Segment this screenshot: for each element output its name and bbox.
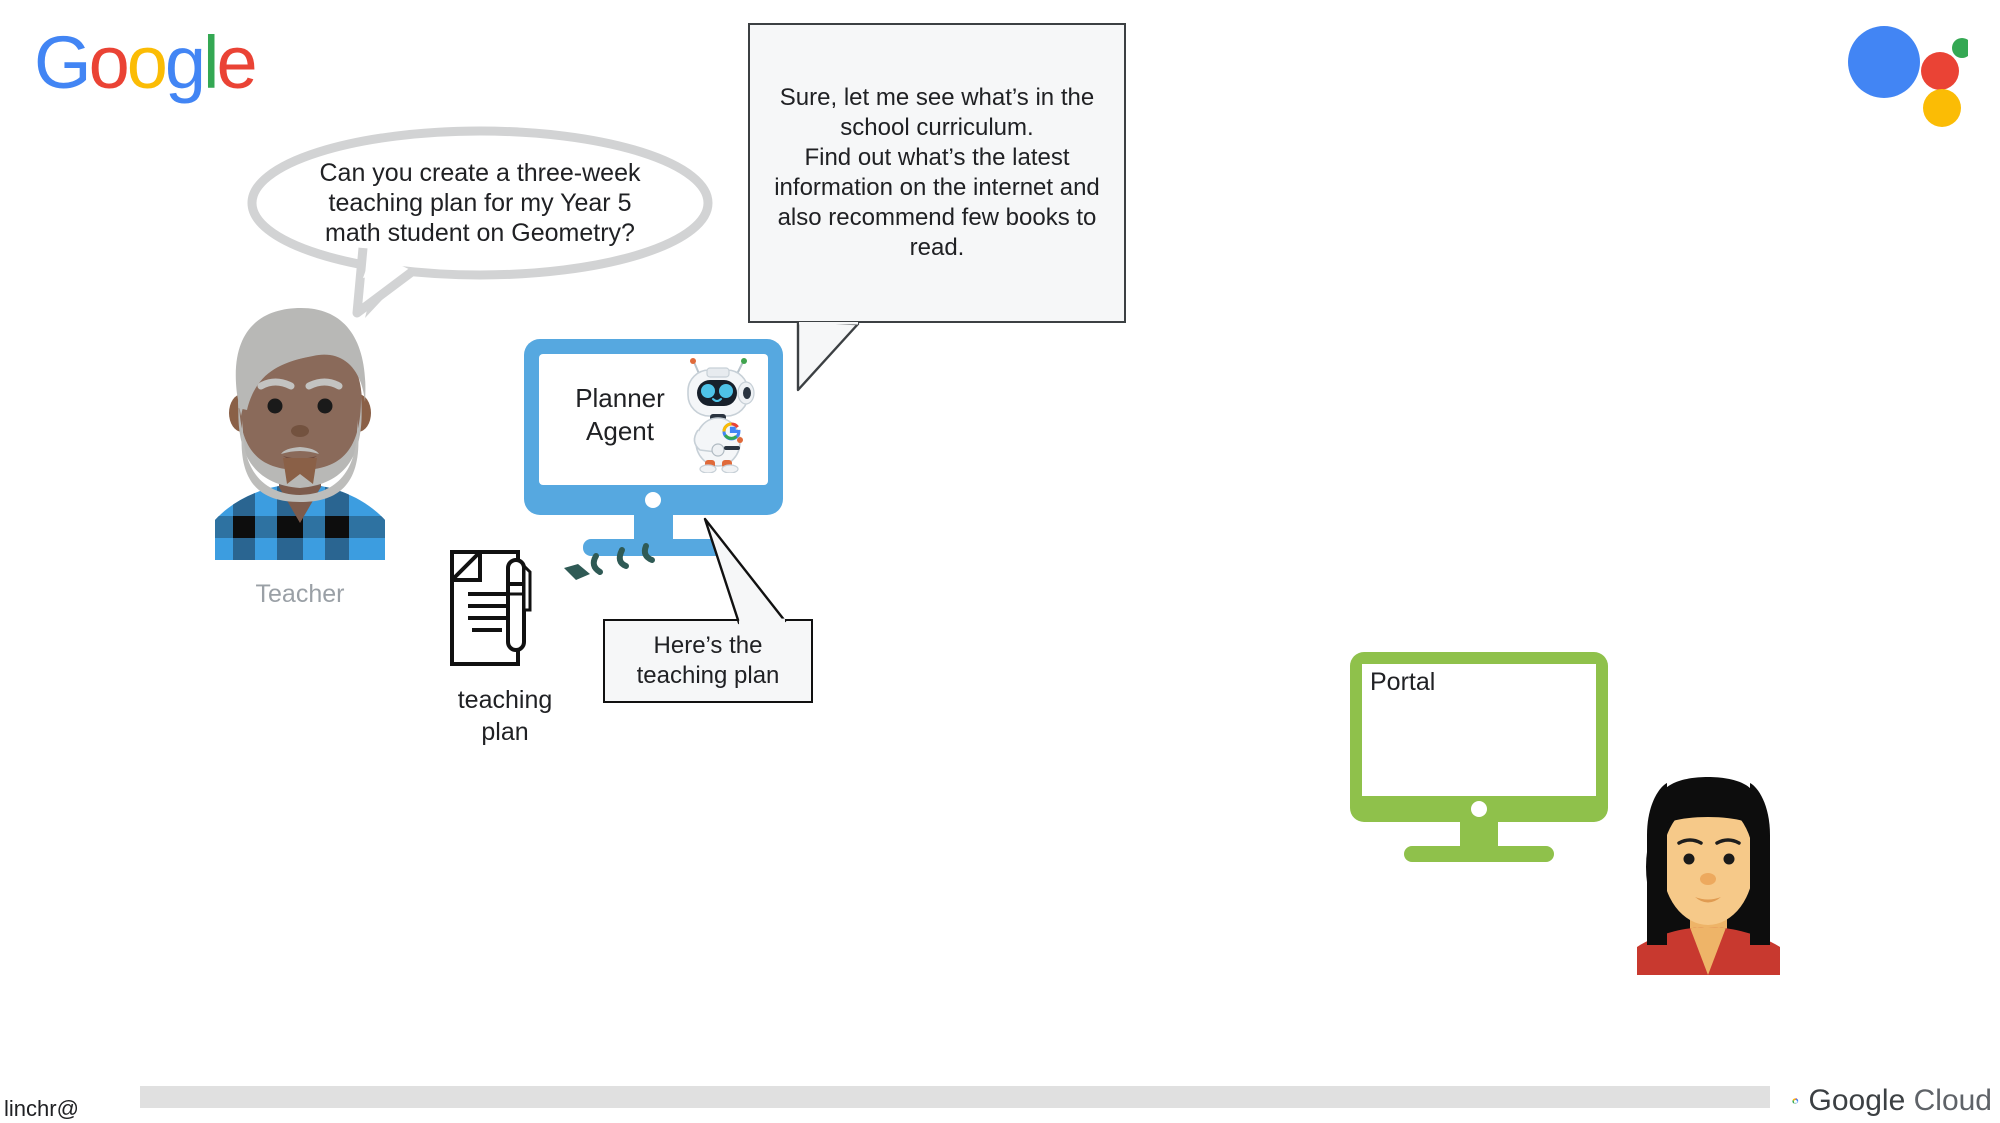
google-assistant-dots-icon bbox=[1848, 26, 1968, 136]
footer-progress-bar bbox=[140, 1086, 1770, 1108]
google-logo-letter-g: G bbox=[34, 26, 89, 100]
google-logo-letter-e: e bbox=[216, 26, 254, 100]
document-with-pen-icon bbox=[448, 548, 560, 668]
google-cloud-word-google: Google bbox=[1809, 1084, 1906, 1117]
robot-icon bbox=[680, 358, 758, 473]
student-avatar bbox=[1637, 775, 1780, 975]
speech-bubble-plan-text: Here’s the teaching plan bbox=[605, 621, 811, 701]
google-cloud-logo: Google Cloud bbox=[1792, 1080, 1992, 1122]
google-logo-letter-g2: g bbox=[165, 26, 203, 100]
planner-agent-screen-label: Planner Agent bbox=[555, 382, 685, 448]
speech-bubble-plan-tail bbox=[701, 513, 811, 625]
portal-screen-label: Portal bbox=[1370, 668, 1435, 697]
speech-bubble-teacher: Can you create a three-week teaching pla… bbox=[245, 128, 715, 278]
speech-bubble-agent-text: Sure, let me see what’s in the school cu… bbox=[750, 25, 1124, 321]
teaching-plan-label: teaching plan bbox=[410, 684, 600, 748]
google-logo: Google bbox=[34, 26, 255, 100]
google-logo-letter-l: l bbox=[203, 26, 216, 100]
teacher-label: Teacher bbox=[180, 580, 420, 609]
speech-bubble-agent: Sure, let me see what’s in the school cu… bbox=[748, 23, 1126, 323]
scribble-marks bbox=[560, 540, 680, 600]
google-cloud-wordmark: Google Cloud bbox=[1809, 1084, 1992, 1118]
google-cloud-icon bbox=[1792, 1084, 1799, 1118]
speech-bubble-plan-handoff: Here’s the teaching plan bbox=[603, 619, 813, 703]
google-cloud-word-cloud: Cloud bbox=[1914, 1084, 1992, 1117]
slide-canvas: Google Can you create a three-week teach… bbox=[0, 0, 2000, 1123]
teacher-avatar bbox=[215, 298, 385, 560]
google-logo-letter-o1: o bbox=[89, 26, 127, 100]
speech-bubble-agent-tail bbox=[796, 322, 906, 392]
google-logo-letter-o2: o bbox=[127, 26, 165, 100]
footer-username: linchr@ bbox=[4, 1096, 79, 1122]
speech-bubble-teacher-text: Can you create a three-week teaching pla… bbox=[245, 128, 715, 278]
